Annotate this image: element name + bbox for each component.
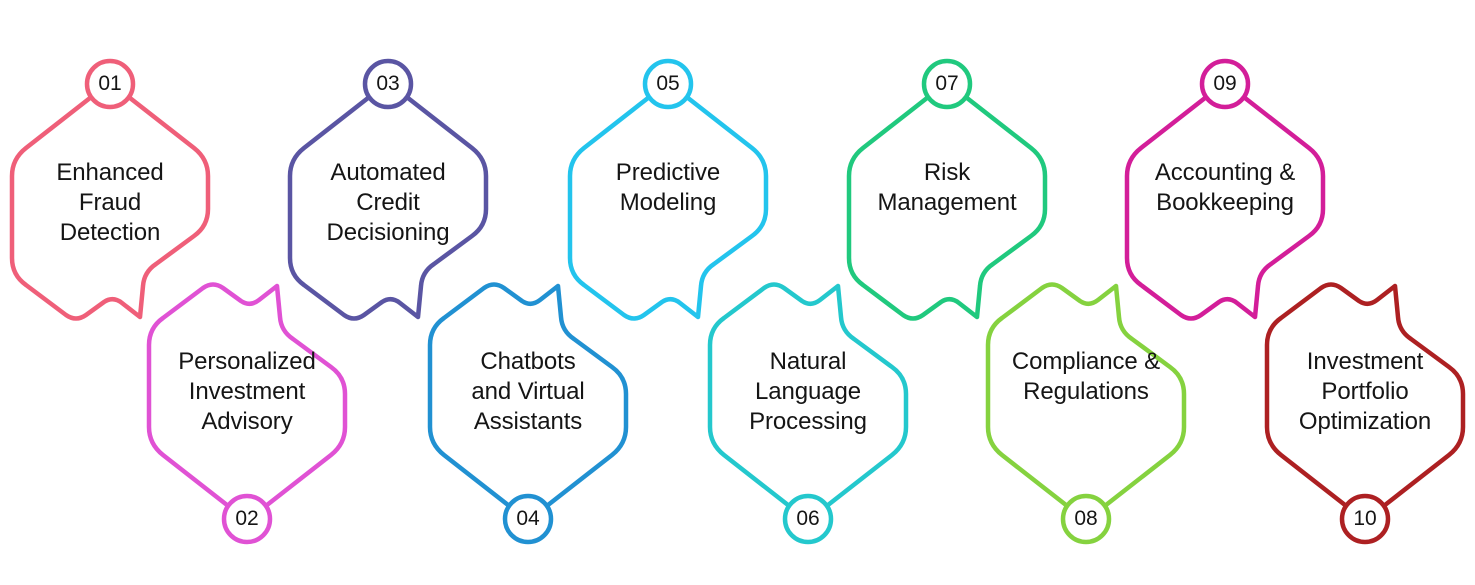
hexagon-outline-10 — [1259, 277, 1471, 517]
hexagon-node-10[interactable]: 10Investment Portfolio Optimization — [1259, 277, 1471, 517]
number-badge-circle-10 — [1342, 496, 1388, 542]
number-badge-circle-03 — [365, 61, 411, 107]
number-badge-circle-04 — [505, 496, 551, 542]
number-badge-circle-02 — [224, 496, 270, 542]
infographic-canvas: 01Enhanced Fraud Detection02Personalized… — [0, 0, 1475, 585]
number-badge-circle-05 — [645, 61, 691, 107]
hexagon-path — [1267, 285, 1463, 506]
number-badge-circle-06 — [785, 496, 831, 542]
number-badge-circle-01 — [87, 61, 133, 107]
number-badge-circle-07 — [924, 61, 970, 107]
number-badge-circle-08 — [1063, 496, 1109, 542]
number-badge-circle-09 — [1202, 61, 1248, 107]
